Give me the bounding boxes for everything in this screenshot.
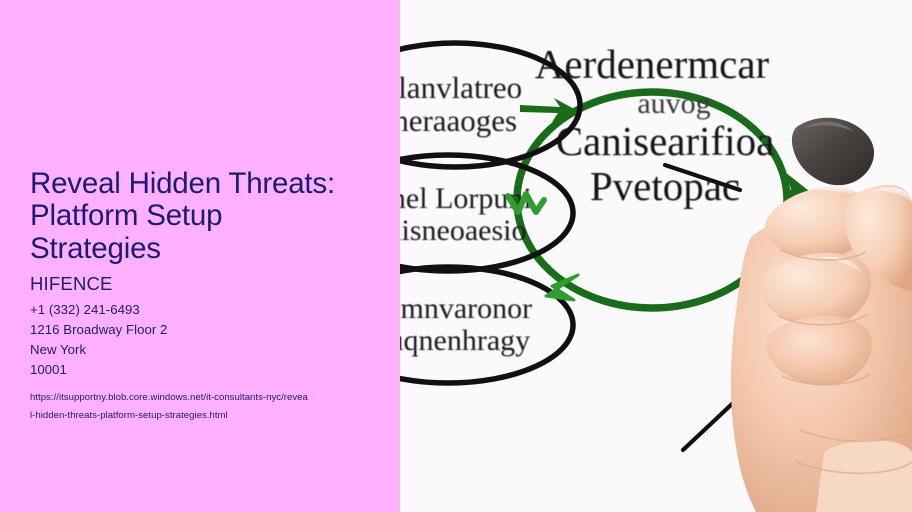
company-name: HIFENCE [30,273,375,295]
node-mid-left-line-2: oiilisneoaesio [400,214,526,247]
node-bottom-left-line-1: Aomnvaronor [400,292,532,325]
node-top-left-line-1: flanvlatreo [400,70,522,105]
page-title: Reveal Hidden Threats: Platform Setup St… [30,168,375,265]
url-line-2[interactable]: l-hidden-threats-platform-setup-strategi… [30,407,375,426]
hand-holding-marker [731,185,912,512]
mind-map-illustration: Aerdenermcar auvog Canisearifioa Pvetopa… [400,0,912,512]
center-node-text-line-2: auvog [637,87,710,120]
url-line-1[interactable]: https://itsupportny.blob.core.windows.ne… [30,389,375,408]
promo-banner: Reveal Hidden Threats: Platform Setup St… [0,0,912,512]
phone-number: +1 (332) 241-6493 [30,300,375,320]
hand-wrist [816,440,912,512]
text-block: Reveal Hidden Threats: Platform Setup St… [30,168,375,426]
mind-map-svg: Aerdenermcar auvog Canisearifioa Pvetopa… [400,0,912,512]
zip-code: 10001 [30,360,375,380]
node-bottom-left-line-2: Etuqnenhragy [400,324,530,357]
left-text-panel: Reveal Hidden Threats: Platform Setup St… [0,0,400,512]
center-node-text-line-3: Canisearifioa [556,118,775,164]
center-node-text-line-4: Pvetopac [590,163,740,209]
node-top-left-line-2: Iheraaoges [400,103,517,138]
node-mid-left-text: iirnel Lorpuni oiilisneoaesio [400,182,532,247]
node-top-left-text: flanvlatreo Iheraaoges [400,70,522,138]
url-block[interactable]: https://itsupportny.blob.core.windows.ne… [30,389,375,426]
node-bottom-left-text: Aomnvaronor Etuqnenhragy [400,292,532,357]
city: New York [30,340,375,360]
street-address: 1216 Broadway Floor 2 [30,320,375,340]
